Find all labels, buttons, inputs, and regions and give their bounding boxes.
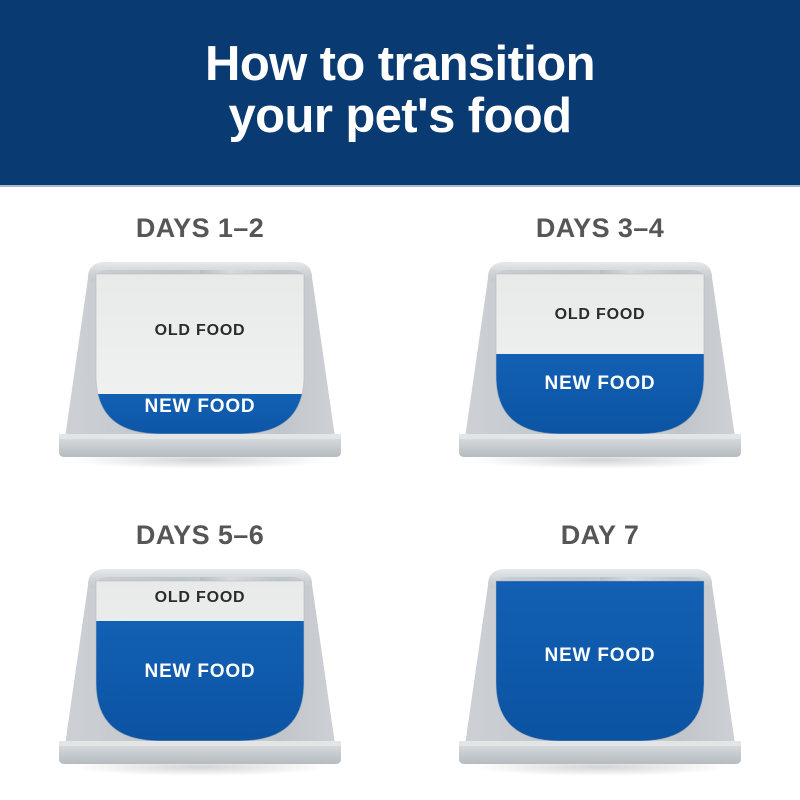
page-title: How to transition your pet's food — [205, 39, 595, 147]
bowl-days-5-6: OLD FOOD NEW FOOD — [35, 563, 365, 788]
transition-steps-grid: DAYS 1–2 — [0, 187, 800, 800]
step-title-day-7: DAY 7 — [561, 520, 640, 551]
step-title-days-1-2: DAYS 1–2 — [136, 213, 264, 244]
bowl-illustration — [35, 563, 365, 788]
step-days-1-2: DAYS 1–2 — [0, 187, 400, 494]
bowl-days-3-4: OLD FOOD NEW FOOD — [435, 256, 765, 481]
step-days-5-6: DAYS 5–6 — [0, 494, 400, 800]
step-day-7: DAY 7 — [400, 494, 800, 800]
bowl-base-highlight — [459, 434, 741, 439]
bowl-illustration — [435, 256, 765, 481]
bowl-base-highlight — [59, 741, 341, 746]
step-days-3-4: DAYS 3–4 — [400, 187, 800, 494]
step-title-days-5-6: DAYS 5–6 — [136, 520, 264, 551]
infographic-page: How to transition your pet's food DAYS 1… — [0, 0, 800, 800]
bowl-days-1-2: OLD FOOD NEW FOOD — [35, 256, 365, 481]
bowl-illustration — [35, 256, 365, 481]
step-title-days-3-4: DAYS 3–4 — [536, 213, 664, 244]
bowl-base-highlight — [459, 741, 741, 746]
header-banner: How to transition your pet's food — [0, 0, 800, 185]
bowl-base-highlight — [59, 434, 341, 439]
bowl-illustration — [435, 563, 765, 788]
bowl-day-7: OLD FOOD NEW FOOD — [435, 563, 765, 788]
